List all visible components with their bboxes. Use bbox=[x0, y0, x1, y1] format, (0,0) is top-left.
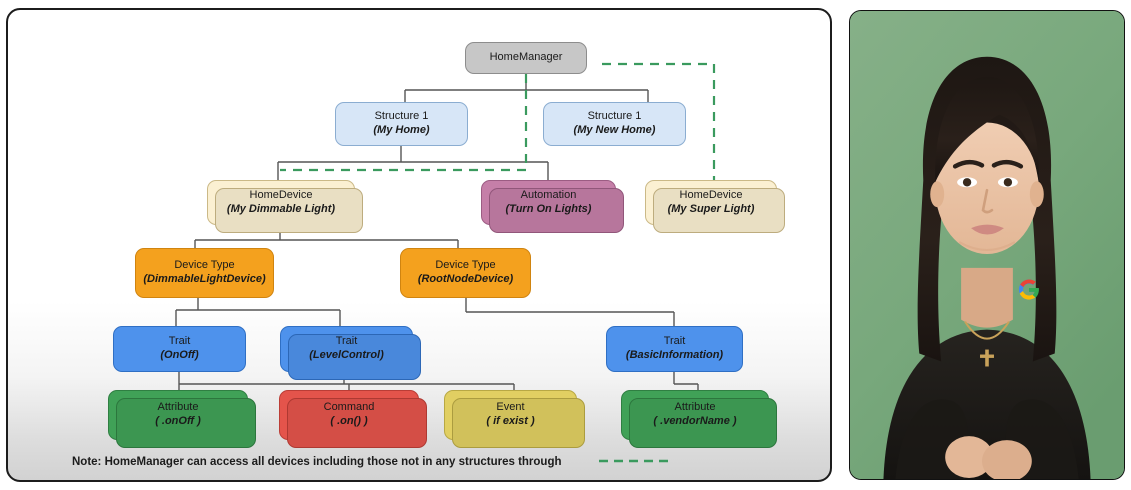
node-home-device-dimmable[interactable]: HomeDevice (My Dimmable Light) bbox=[207, 180, 355, 225]
green-dashed-line-icon bbox=[598, 453, 670, 471]
node-label-secondary: ( .onOff ) bbox=[155, 415, 201, 429]
node-label-primary: Attribute bbox=[158, 401, 199, 415]
node-label-secondary: (My Dimmable Light) bbox=[227, 203, 335, 217]
node-attribute-onoff[interactable]: Attribute ( .onOff ) bbox=[108, 390, 248, 440]
node-label-secondary: (OnOff) bbox=[160, 349, 198, 363]
node-label-primary: Structure 1 bbox=[375, 110, 429, 124]
node-label-primary: Trait bbox=[336, 335, 358, 349]
node-label-primary: Automation bbox=[521, 189, 577, 203]
node-device-type-rootnode[interactable]: Device Type (RootNodeDevice) bbox=[400, 248, 531, 298]
node-label-primary: HomeManager bbox=[490, 51, 563, 65]
node-label-primary: Structure 1 bbox=[588, 110, 642, 124]
node-label-secondary: ( .vendorName ) bbox=[653, 415, 736, 429]
node-attribute-vendorname[interactable]: Attribute ( .vendorName ) bbox=[621, 390, 769, 440]
node-device-type-dimmable[interactable]: Device Type (DimmableLightDevice) bbox=[135, 248, 274, 298]
node-label-secondary: (LevelControl) bbox=[309, 349, 384, 363]
presenter-neck bbox=[961, 268, 1013, 328]
node-home-manager[interactable]: HomeManager bbox=[465, 42, 587, 74]
diagram-canvas: HomeManager Structure 1 (My Home) Struct… bbox=[8, 10, 830, 480]
node-trait-onoff[interactable]: Trait (OnOff) bbox=[113, 326, 246, 372]
node-home-device-super[interactable]: HomeDevice (My Super Light) bbox=[645, 180, 777, 225]
node-label-primary: Device Type bbox=[174, 259, 234, 273]
node-command-on[interactable]: Command ( .on() ) bbox=[279, 390, 419, 440]
node-label-secondary: (Turn On Lights) bbox=[506, 203, 592, 217]
node-label-primary: HomeDevice bbox=[680, 189, 743, 203]
node-label-primary: Event bbox=[496, 401, 524, 415]
node-label-secondary: (My New Home) bbox=[574, 124, 656, 138]
node-label-primary: Trait bbox=[664, 335, 686, 349]
diagram-panel: HomeManager Structure 1 (My Home) Struct… bbox=[6, 8, 832, 482]
node-trait-levelcontrol[interactable]: Trait (LevelControl) bbox=[280, 326, 413, 372]
node-event-ifexist[interactable]: Event ( if exist ) bbox=[444, 390, 577, 440]
node-label-secondary: (DimmableLightDevice) bbox=[143, 273, 265, 287]
node-label-secondary: (My Home) bbox=[373, 124, 429, 138]
presenter-video-panel[interactable] bbox=[849, 10, 1125, 480]
node-label-primary: HomeDevice bbox=[250, 189, 313, 203]
note-text: Note: HomeManager can access all devices… bbox=[72, 456, 562, 468]
node-label-primary: Command bbox=[324, 401, 375, 415]
node-label-secondary: (RootNodeDevice) bbox=[418, 273, 513, 287]
node-label-secondary: ( if exist ) bbox=[486, 415, 534, 429]
node-structure-1[interactable]: Structure 1 (My Home) bbox=[335, 102, 468, 146]
node-label-primary: Attribute bbox=[675, 401, 716, 415]
node-label-primary: Device Type bbox=[435, 259, 495, 273]
node-trait-basicinformation[interactable]: Trait (BasicInformation) bbox=[606, 326, 743, 372]
presenter-video-frame bbox=[850, 11, 1124, 479]
node-label-secondary: ( .on() ) bbox=[330, 415, 367, 429]
node-structure-2[interactable]: Structure 1 (My New Home) bbox=[543, 102, 686, 146]
diagram-note: Note: HomeManager can access all devices… bbox=[8, 453, 832, 471]
screen: HomeManager Structure 1 (My Home) Struct… bbox=[0, 0, 1131, 490]
node-label-secondary: (BasicInformation) bbox=[626, 349, 723, 363]
node-label-primary: Trait bbox=[169, 335, 191, 349]
node-automation[interactable]: Automation (Turn On Lights) bbox=[481, 180, 616, 225]
node-label-secondary: (My Super Light) bbox=[668, 203, 755, 217]
